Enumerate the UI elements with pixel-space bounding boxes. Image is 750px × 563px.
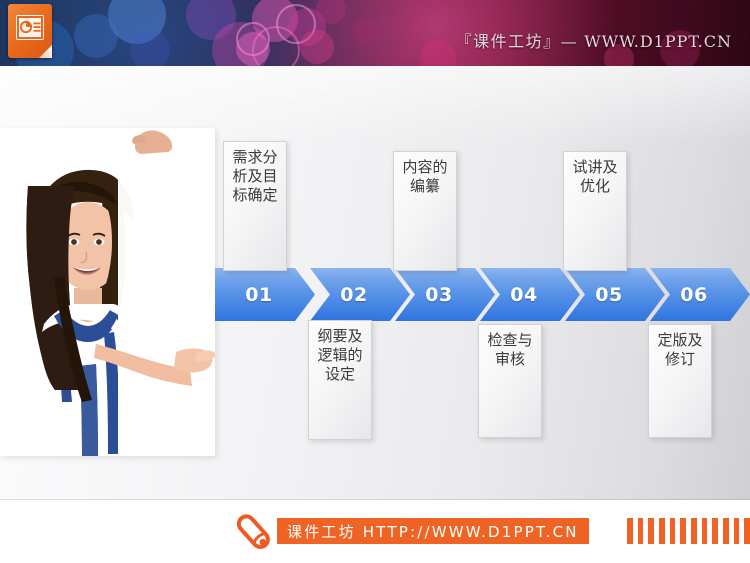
process-step-arrow-06[interactable]: 06 [650, 268, 750, 321]
logo-inner-slide [16, 15, 44, 40]
process-step-arrow-02[interactable]: 02 [310, 268, 410, 321]
woman-pointing-illustration [0, 128, 215, 456]
footer-bar-tick [691, 518, 697, 544]
app-logo [8, 4, 56, 60]
header-title-cn: 『课件工坊』 [456, 32, 561, 51]
step-label-text-03: 内容的编纂 [394, 152, 456, 196]
bokeh-circle [420, 40, 456, 66]
step-label-text-02: 纲要及逻辑的设定 [309, 321, 371, 385]
step-label-text-06: 定版及修订 [649, 325, 711, 369]
footer-bar-tick [712, 518, 718, 544]
process-step-arrow-04[interactable]: 04 [480, 268, 580, 321]
presenter-photo [0, 128, 215, 456]
pencil-icon [232, 511, 274, 553]
process-step-arrow-05[interactable]: 05 [565, 268, 665, 321]
process-step-arrow-01[interactable]: 01 [215, 268, 315, 321]
process-step-label-01[interactable]: 需求分析及目标确定 [223, 141, 287, 271]
process-step-label-04[interactable]: 检查与审核 [478, 324, 542, 438]
bokeh-circle [352, 18, 378, 44]
header-title-url: WWW.D1PPT.CN [584, 32, 732, 51]
footer-bar-tick [723, 518, 729, 544]
bokeh-circle [186, 0, 236, 40]
step-number-04: 04 [510, 284, 537, 306]
footer-bar-tick [627, 518, 633, 544]
header-banner: 『课件工坊』— WWW.D1PPT.CN [0, 0, 750, 66]
step-label-text-01: 需求分析及目标确定 [224, 142, 286, 206]
footer-bar-tick [734, 518, 740, 544]
page-fold-corner [39, 45, 52, 58]
step-label-text-05: 试讲及优化 [564, 152, 626, 196]
footer-bar-tick [648, 518, 654, 544]
step-number-06: 06 [680, 284, 707, 306]
powerpoint-document-icon [8, 4, 52, 58]
bokeh-circle [300, 30, 334, 64]
bokeh-circle [288, 8, 326, 46]
step-number-02: 02 [340, 284, 367, 306]
step-number-01: 01 [245, 284, 272, 306]
bokeh-circle [236, 32, 270, 66]
slide-canvas: 01 02 03 04 05 06 需求分析及目标确定 内容的编纂 [0, 66, 750, 500]
process-step-label-06[interactable]: 定版及修订 [648, 324, 712, 438]
footer-bar-pattern [627, 518, 750, 544]
process-step-label-02[interactable]: 纲要及逻辑的设定 [308, 320, 372, 440]
process-step-label-03[interactable]: 内容的编纂 [393, 151, 457, 271]
bokeh-circle [212, 22, 268, 66]
step-number-05: 05 [595, 284, 622, 306]
bokeh-circle [252, 0, 298, 42]
step-number-03: 03 [425, 284, 452, 306]
process-step-label-05[interactable]: 试讲及优化 [563, 151, 627, 271]
footer-bar-tick [659, 518, 665, 544]
process-diagram: 01 02 03 04 05 06 需求分析及目标确定 内容的编纂 [215, 66, 750, 500]
footer-bar-tick [638, 518, 644, 544]
footer-bar-tick [670, 518, 676, 544]
process-arrow-row: 01 02 03 04 05 06 [215, 268, 750, 321]
footer-bar-tick [744, 518, 750, 544]
bokeh-circle [252, 26, 300, 66]
bokeh-circle [130, 30, 170, 66]
bokeh-circle [316, 0, 346, 24]
footer-bar-tick [680, 518, 686, 544]
header-site-title: 『课件工坊』— WWW.D1PPT.CN [456, 28, 732, 52]
bokeh-circle [276, 4, 316, 44]
bokeh-circle [108, 0, 166, 44]
footer-badge-text: 课件工坊 HTTP://WWW.D1PPT.CN [287, 521, 579, 542]
slide-glyph-icon [16, 15, 44, 40]
footer-site-badge[interactable]: 课件工坊 HTTP://WWW.D1PPT.CN [277, 518, 589, 544]
header-title-dash: — [561, 32, 578, 51]
step-label-text-04: 检查与审核 [479, 325, 541, 369]
footer-bar-tick [702, 518, 708, 544]
bokeh-circle [236, 22, 270, 56]
process-step-arrow-03[interactable]: 03 [395, 268, 495, 321]
bokeh-circle [74, 14, 118, 58]
